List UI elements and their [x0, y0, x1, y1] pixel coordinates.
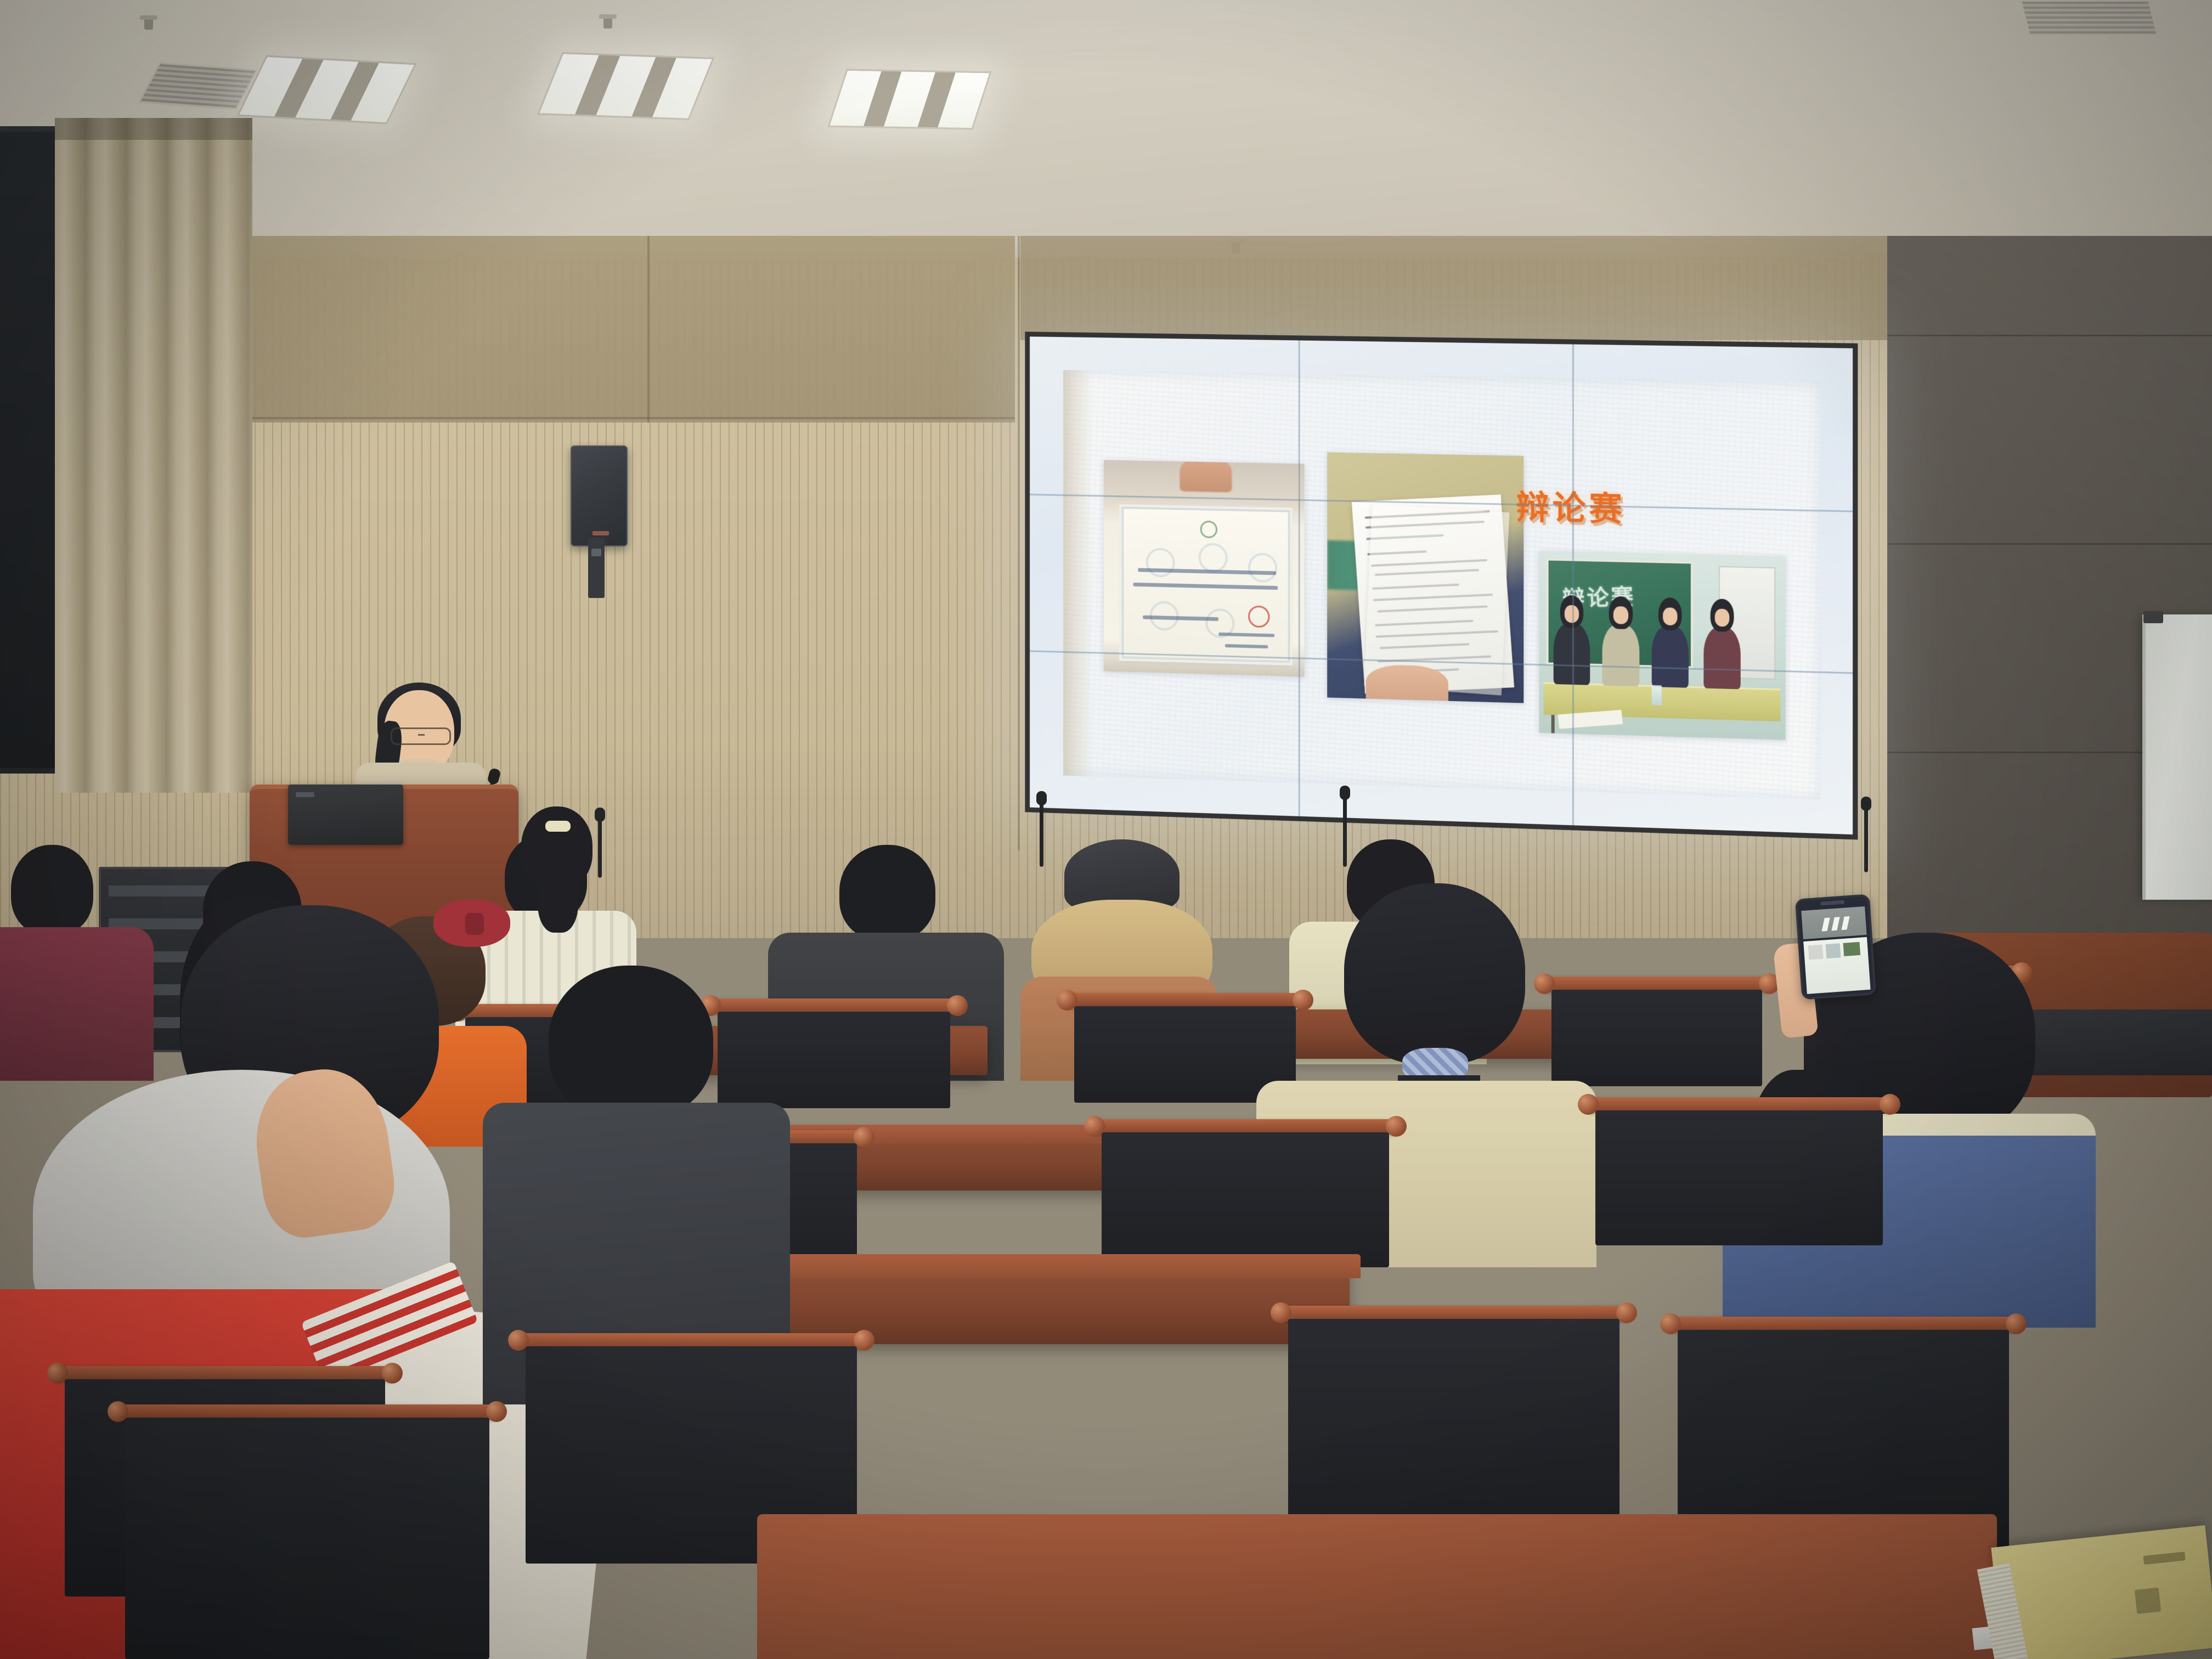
bench-seat: [1585, 1097, 1893, 1245]
bench-seat: [1278, 1306, 1629, 1525]
debater-figure: [1703, 626, 1741, 689]
speaker-mount: [588, 538, 605, 598]
window-curtain: [55, 118, 252, 793]
ceiling-air-vent: [138, 62, 258, 110]
bench-seat: [1092, 1119, 1399, 1267]
desk-top: [757, 1514, 1997, 1659]
wall-seam: [647, 236, 650, 422]
ceiling-light-panel: [537, 52, 714, 120]
fire-sprinkler-icon: [144, 15, 153, 30]
laptop: [288, 785, 403, 845]
ceiling-light-panel: [828, 69, 992, 130]
debater-figure: [1652, 625, 1689, 688]
debater-figure: [1602, 623, 1639, 686]
slide-photo-debate-panel: 辩论赛: [1539, 551, 1785, 740]
lecture-hall-photo: 辩论赛 辩论赛: [0, 0, 2212, 1659]
wall-seam: [1018, 236, 1020, 850]
wall-panel-upper: [230, 236, 1015, 422]
slide-photo-certificate: [1104, 460, 1305, 676]
slide-edge: [1063, 370, 1092, 777]
slide-title: 辩论赛: [1516, 480, 1626, 531]
ceiling-air-vent: [2020, 0, 2158, 36]
video-wall-display[interactable]: 辩论赛 辩论赛: [1025, 332, 1858, 840]
slide-photo-debate-script: [1327, 452, 1523, 703]
yellow-notebook: [1991, 1525, 2212, 1659]
presentation-slide: 辩论赛 辩论赛: [1063, 370, 1820, 800]
curtain-rail: [55, 118, 252, 140]
bench-seat: [1668, 1317, 2019, 1547]
table-microphone: [1864, 806, 1868, 872]
wall-speaker-icon: [571, 445, 628, 546]
whiteboard: [2142, 614, 2212, 900]
presenter-glasses: [391, 727, 451, 745]
debater-figure: [1554, 622, 1590, 685]
wall-seam: [230, 417, 1015, 419]
wall-panel-upper: [1020, 236, 1893, 340]
fire-sprinkler-icon: [603, 14, 612, 29]
ceiling-light-panel: [237, 55, 417, 125]
smartphone-screen[interactable]: [1795, 894, 1877, 1000]
bench-seat: [115, 1404, 499, 1659]
